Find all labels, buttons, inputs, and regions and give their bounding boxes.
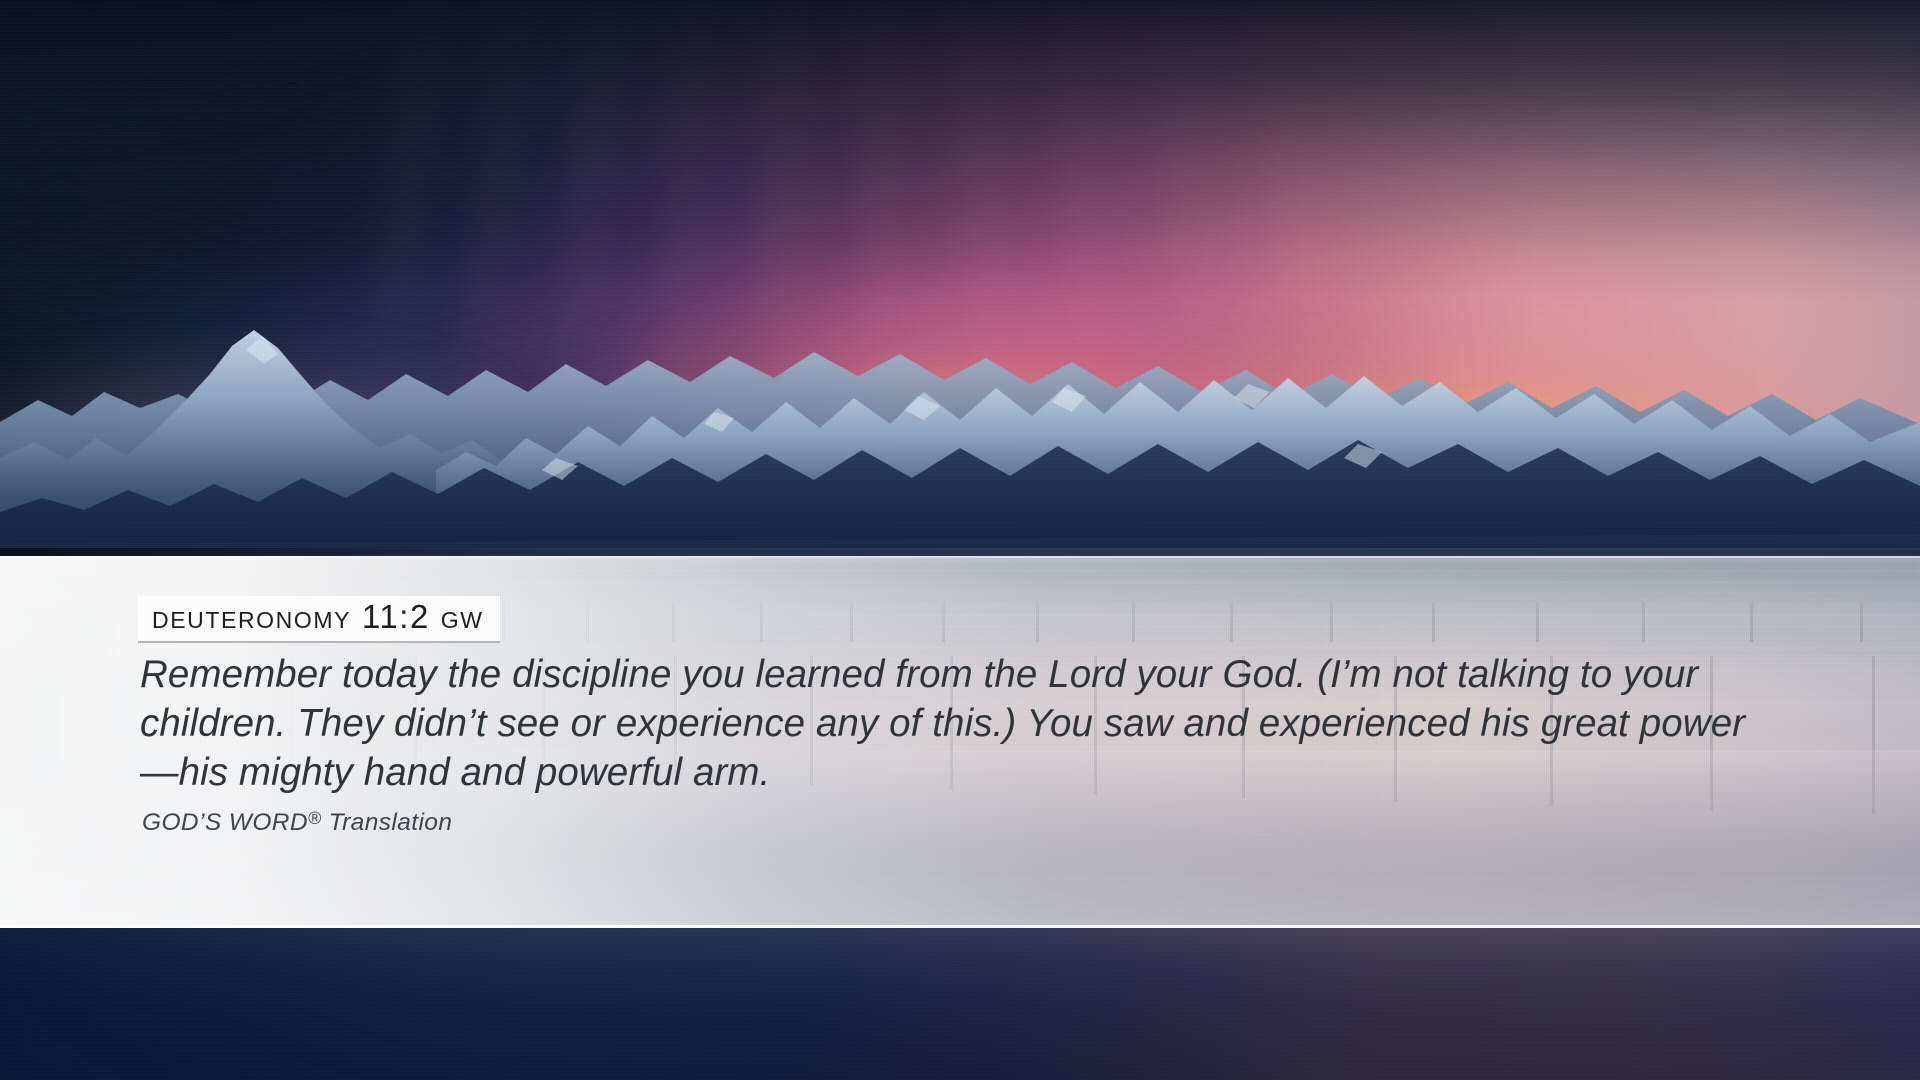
registered-trademark-icon: ® bbox=[308, 808, 321, 828]
attribution-suffix: Translation bbox=[321, 809, 452, 836]
verse-reference-box: Deuteronomy 11:2 GW bbox=[138, 596, 500, 643]
scripture-image-canvas: Deuteronomy 11:2 GW Remember today the d… bbox=[0, 0, 1920, 1080]
verse-text: Remember today the discipline you learne… bbox=[140, 650, 1780, 797]
scripture-overlay-panel: Deuteronomy 11:2 GW Remember today the d… bbox=[0, 556, 1920, 928]
panel-content: Deuteronomy 11:2 GW Remember today the d… bbox=[0, 556, 1920, 928]
attribution-name: GOD’S WORD bbox=[142, 809, 308, 836]
verse-reference: Deuteronomy 11:2 GW bbox=[152, 598, 484, 637]
translation-attribution: GOD’S WORD® Translation bbox=[142, 808, 452, 837]
